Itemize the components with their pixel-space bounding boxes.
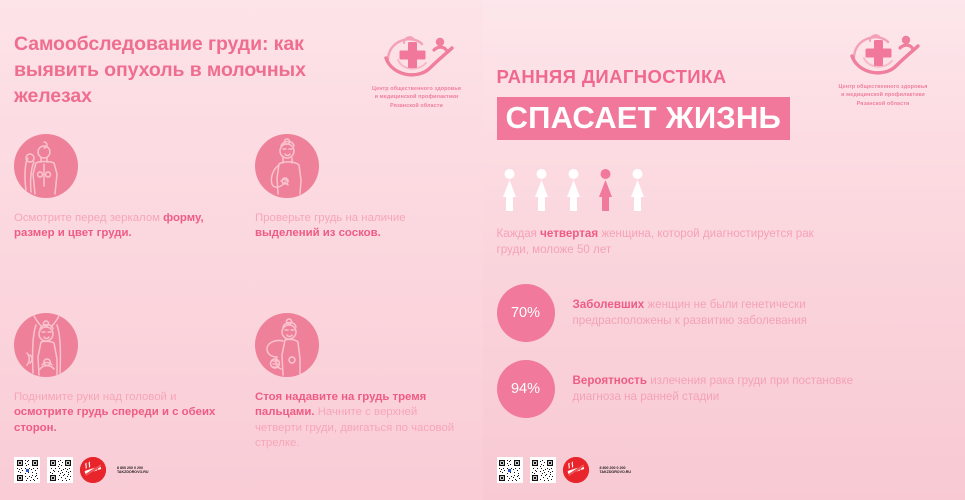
logo-caption: Центр общественного здоровья и медицинск…: [839, 83, 928, 108]
footer-left: 8 800 200 0 200 TAKZDOROVO.RU: [14, 457, 148, 483]
step-row-bottom: Поднимите руки над головой и осмотрите г…: [0, 313, 482, 451]
logo-line-1: Центр общественного здоровья: [372, 85, 461, 93]
step-row-top: Осмотрите перед зеркалом форму, размер и…: [0, 134, 482, 241]
stat-description: Вероятность излечения рака груди при пос…: [573, 373, 903, 405]
female-figure-icon: [497, 168, 522, 212]
female-figure-icon: [625, 168, 650, 212]
logo-caption: Центр общественного здоровья и медицинск…: [372, 85, 461, 110]
step-2-bold: выделений из сосков.: [255, 227, 381, 239]
step-2-text: Проверьте грудь на наличие выделений из …: [255, 211, 460, 241]
saves-life-headline: СПАСАЕТ ЖИЗНЬ: [506, 102, 782, 133]
stat-item-70: 70% Заболевших женщин не были генетическ…: [497, 284, 903, 342]
page-title: Самообследование груди: как выявить опух…: [14, 32, 369, 110]
woman-arms-raised-icon: [14, 313, 78, 377]
step-item-2: Проверьте грудь на наличие выделений из …: [241, 134, 482, 241]
medical-cross-swoosh-icon: [844, 28, 922, 80]
hotline-info: 8 800 200 0 200 TAKZDOROVO.RU: [117, 466, 148, 475]
qr-code-icon[interactable]: [14, 457, 40, 483]
step-1-text: Осмотрите перед зеркалом форму, размер и…: [14, 211, 219, 241]
infographic-canvas: Самообследование груди: как выявить опух…: [0, 0, 965, 500]
stat-value-badge: 94%: [497, 360, 555, 418]
right-panel: РАННЯЯ ДИАГНОСТИКА СПАСАЕТ ЖИЗНЬ Центр о…: [483, 0, 965, 500]
organization-logo: Центр общественного здоровья и медицинск…: [372, 30, 461, 110]
logo-line-3: Рязанской области: [372, 102, 461, 110]
woman-checking-nipple-discharge-icon: [255, 134, 319, 198]
female-figure-icon: [561, 168, 586, 212]
qr-code-icon[interactable]: [47, 457, 73, 483]
step-item-3: Поднимите руки над головой и осмотрите г…: [0, 313, 241, 451]
figures-caption: Каждая четвертая женщина, которой диагно…: [497, 226, 827, 258]
stat-description: Заболевших женщин не были генетически пр…: [573, 297, 903, 329]
left-panel: Самообследование груди: как выявить опух…: [0, 0, 483, 500]
step-4-text: Стоя надавите на грудь тремя пальцами. Н…: [255, 390, 460, 451]
hotline-site: TAKZDOROVO.RU: [117, 470, 148, 474]
step-3-bold: осмотрите грудь спереди и с обеих сторон…: [14, 406, 215, 433]
figures-caption-lead: Каждая: [497, 227, 541, 240]
female-figures-row: [497, 168, 650, 212]
stat-item-94: 94% Вероятность излечения рака груди при…: [497, 360, 903, 418]
female-figure-icon-highlighted: [593, 168, 618, 212]
self-exam-steps: Осмотрите перед зеркалом форму, размер и…: [0, 134, 482, 451]
hotline-site: TAKZDOROVO.RU: [600, 470, 631, 474]
logo-line-2: и медицинской профилактики: [372, 93, 461, 101]
no-smoking-badge-icon: [563, 457, 589, 483]
step-3-text: Поднимите руки над головой и осмотрите г…: [14, 390, 219, 435]
female-figure-icon: [529, 168, 554, 212]
early-diagnosis-kicker: РАННЯЯ ДИАГНОСТИКА: [497, 66, 727, 88]
footer-right: 8 800 200 0 200 TAKZDOROVO.RU: [497, 457, 631, 483]
woman-palpating-breast-icon: [255, 313, 319, 377]
figures-caption-bold: четвертая: [540, 227, 598, 240]
stat-0-bold: Заболевших: [573, 298, 645, 311]
step-1-lead: Осмотрите перед зеркалом: [14, 212, 160, 224]
woman-at-mirror-icon: [14, 134, 78, 198]
step-3-lead: Поднимите руки над головой и: [14, 391, 176, 403]
hotline-info: 8 800 200 0 200 TAKZDOROVO.RU: [600, 466, 631, 475]
stat-value-badge: 70%: [497, 284, 555, 342]
step-2-lead: Проверьте грудь на наличие: [255, 212, 406, 224]
logo-line-2: и медицинской профилактики: [839, 91, 928, 99]
qr-code-icon[interactable]: [497, 457, 523, 483]
logo-line-3: Рязанской области: [839, 100, 928, 108]
saves-life-band: СПАСАЕТ ЖИЗНЬ: [497, 97, 791, 140]
no-smoking-badge-icon: [80, 457, 106, 483]
qr-code-icon[interactable]: [530, 457, 556, 483]
stat-1-bold: Вероятность: [573, 374, 647, 387]
organization-logo: Центр общественного здоровья и медицинск…: [839, 28, 928, 108]
logo-line-1: Центр общественного здоровья: [839, 83, 928, 91]
step-item-1: Осмотрите перед зеркалом форму, размер и…: [0, 134, 241, 241]
step-item-4: Стоя надавите на грудь тремя пальцами. Н…: [241, 313, 482, 451]
medical-cross-swoosh-icon: [378, 30, 456, 82]
